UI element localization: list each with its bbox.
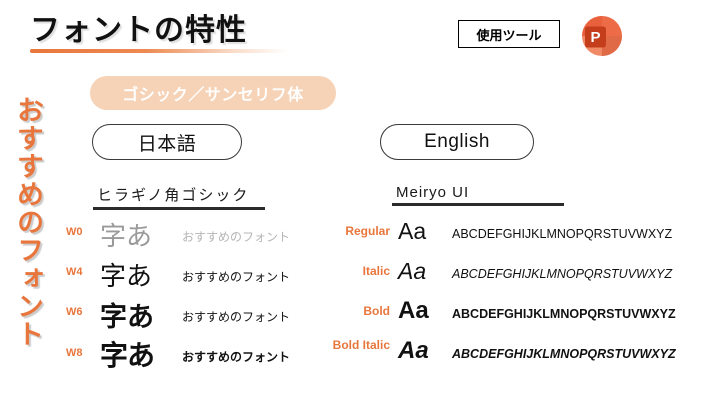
title-underline bbox=[30, 49, 288, 53]
language-pill-japanese: 日本語 bbox=[92, 124, 242, 160]
font-name-heading-japanese: ヒラギノ角ゴシック bbox=[93, 184, 273, 210]
font-name-english: Meiryo UI bbox=[392, 184, 572, 201]
style-label-english: Bold bbox=[300, 305, 390, 318]
text-sample-english: ABCDEFGHIJKLMNOPQRSTUVWXYZ bbox=[452, 347, 676, 361]
style-label-english: Regular bbox=[300, 225, 390, 238]
weight-label-japanese: W6 bbox=[66, 306, 98, 318]
glyph-sample-japanese: 字あ bbox=[100, 295, 154, 334]
text-sample-english: ABCDEFGHIJKLMNOPQRSTUVWXYZ bbox=[452, 227, 672, 241]
powerpoint-icon: P bbox=[580, 14, 624, 58]
weight-label-japanese: W0 bbox=[66, 226, 98, 238]
weight-label-japanese: W4 bbox=[66, 266, 98, 278]
text-sample-english: ABCDEFGHIJKLMNOPQRSTUVWXYZ bbox=[452, 307, 676, 321]
style-label-english: Bold Italic bbox=[300, 339, 390, 352]
slide-canvas: フォントの特性 使用ツール P ゴシック／サンセリフ体 おすすめのフォント 日本… bbox=[0, 0, 720, 405]
glyph-sample-english: Aa bbox=[398, 218, 426, 245]
glyph-sample-english: Aa bbox=[398, 258, 426, 285]
font-name-japanese: ヒラギノ角ゴシック bbox=[93, 184, 273, 205]
glyph-sample-english: Aa bbox=[398, 297, 429, 325]
font-name-underline-english bbox=[392, 203, 564, 206]
glyph-sample-japanese: 字あ bbox=[100, 334, 154, 374]
category-pill-label: ゴシック／サンセリフ体 bbox=[122, 81, 304, 105]
text-sample-japanese: おすすめのフォント bbox=[182, 228, 290, 245]
table-row: W0 字あ おすすめのフォント Regular Aa ABCDEFGHIJKLM… bbox=[0, 214, 720, 254]
style-label-english: Italic bbox=[300, 265, 390, 278]
tool-label-text: 使用ツール bbox=[476, 25, 541, 44]
table-row: W8 字あ おすすめのフォント Bold Italic Aa ABCDEFGHI… bbox=[0, 334, 720, 374]
page-title-block: フォントの特性 bbox=[30, 14, 330, 53]
category-pill: ゴシック／サンセリフ体 bbox=[90, 76, 336, 110]
table-row: W6 字あ おすすめのフォント Bold Aa ABCDEFGHIJKLMNOP… bbox=[0, 294, 720, 334]
glyph-sample-japanese: 字あ bbox=[100, 216, 152, 253]
language-pill-japanese-label: 日本語 bbox=[138, 129, 197, 156]
glyph-sample-english: Aa bbox=[398, 337, 429, 365]
text-sample-english: ABCDEFGHIJKLMNOPQRSTUVWXYZ bbox=[452, 267, 672, 281]
text-sample-japanese: おすすめのフォント bbox=[182, 348, 290, 365]
font-name-underline-japanese bbox=[93, 207, 265, 210]
tool-label-box: 使用ツール bbox=[458, 20, 560, 48]
language-pill-english: English bbox=[380, 124, 534, 160]
font-name-heading-english: Meiryo UI bbox=[392, 184, 572, 206]
page-title: フォントの特性 bbox=[30, 14, 330, 47]
weight-label-japanese: W8 bbox=[66, 347, 98, 359]
text-sample-japanese: おすすめのフォント bbox=[182, 308, 290, 325]
font-sample-table: W0 字あ おすすめのフォント Regular Aa ABCDEFGHIJKLM… bbox=[0, 214, 720, 374]
table-row: W4 字あ おすすめのフォント Italic Aa ABCDEFGHIJKLMN… bbox=[0, 254, 720, 294]
text-sample-japanese: おすすめのフォント bbox=[182, 268, 290, 285]
glyph-sample-japanese: 字あ bbox=[100, 256, 152, 293]
language-pill-english-label: English bbox=[424, 131, 490, 153]
svg-text:P: P bbox=[590, 29, 600, 46]
